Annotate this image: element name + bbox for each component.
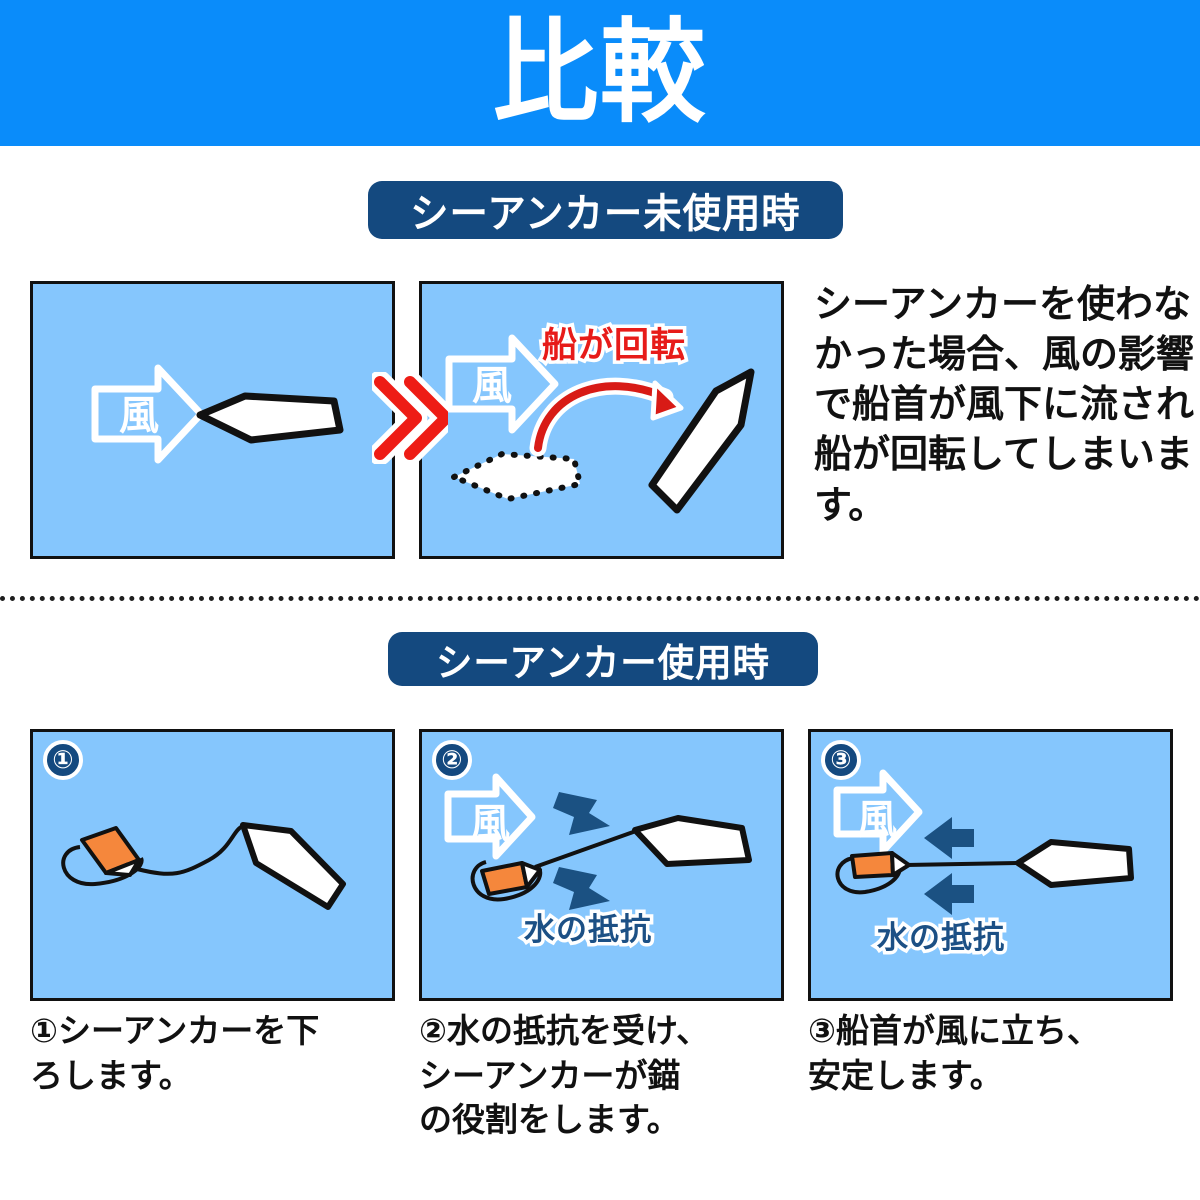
section-badge-with-anchor-label: シーアンカー使用時 [436,632,770,687]
boat-shape [635,818,749,864]
tether-line [137,826,243,874]
header-banner: 比較 [0,0,1200,146]
panel-with-anchor-step-1: ① [30,729,395,1001]
panel-with-anchor-step-2: ② 風 水の抵抗 [419,729,784,1001]
step-caption-3-line-1: ③船首が風に立ち、 [808,1009,1178,1054]
panel-with-anchor-step-3-graphic [811,732,1170,998]
step-caption-1-line-1: ①シーアンカーを下 [30,1009,400,1054]
wind-arrow-icon [95,368,201,460]
section-badge-without-anchor-label: シーアンカー未使用時 [410,181,801,239]
step-caption-1: ①シーアンカーを下 ろします。 [30,1009,400,1098]
water-resistance-label: 水の抵抗 [877,922,1005,953]
step-caption-1-line-2: ろします。 [30,1054,400,1099]
sea-anchor-body [482,863,527,894]
water-resistance-arrow-icon [924,873,974,915]
panel-without-anchor-after-graphic [422,284,781,556]
panel-without-anchor-before-graphic [33,284,392,556]
water-resistance-arrow-icon [553,792,610,835]
section-badge-with-anchor: シーアンカー使用時 [388,632,818,686]
step-number-badge: ① [43,740,83,780]
step-caption-3: ③船首が風に立ち、 安定します。 [808,1009,1178,1098]
step-number-badge: ③ [821,740,861,780]
step-caption-2: ②水の抵抗を受け、 シーアンカーが錨 の役割をします。 [419,1009,789,1143]
panel-without-anchor-before: 風 [30,281,395,559]
water-resistance-arrow-icon [553,867,610,910]
sea-anchor-body [852,853,893,877]
rotation-warning-label: 船が回転 [542,328,686,363]
boat-shape [243,825,343,907]
step-number-badge: ② [432,740,472,780]
section-badge-without-anchor: シーアンカー未使用時 [368,181,843,239]
panel-with-anchor-step-1-graphic [33,732,392,998]
wind-arrow-icon [837,773,919,851]
step-caption-3-line-2: 安定します。 [808,1054,1178,1099]
boat-shape [1018,842,1131,885]
without-anchor-description: シーアンカーを使わなかった場合、風の影響で船首が風下に流され船が回転してしまいま… [814,280,1194,531]
step-caption-2-line-1: ②水の抵抗を受け、 [419,1009,789,1054]
transition-chevron [372,372,448,464]
panel-with-anchor-step-2-graphic [422,732,781,998]
step-caption-2-line-3: の役割をします。 [419,1098,789,1143]
rotation-arrow-head-icon [653,383,681,418]
step-caption-2-line-2: シーアンカーが錨 [419,1054,789,1099]
wind-arrow-icon [448,777,532,856]
section-divider [0,596,1200,601]
panel-without-anchor-after: 風 船が回転 [419,281,784,559]
ghost-boat-shape [454,454,580,499]
water-resistance-label: 水の抵抗 [524,914,652,945]
wind-arrow-icon [449,338,555,430]
water-resistance-arrow-icon [924,817,974,859]
panel-with-anchor-step-3: ③ 風 水の抵抗 [808,729,1173,1001]
rotation-arrow-halo [538,386,665,448]
page-title: 比較 [493,17,707,129]
boat-shape [200,396,340,440]
tether-line [535,831,636,867]
double-chevron-right-icon [372,372,448,464]
tether-line [906,863,1019,865]
